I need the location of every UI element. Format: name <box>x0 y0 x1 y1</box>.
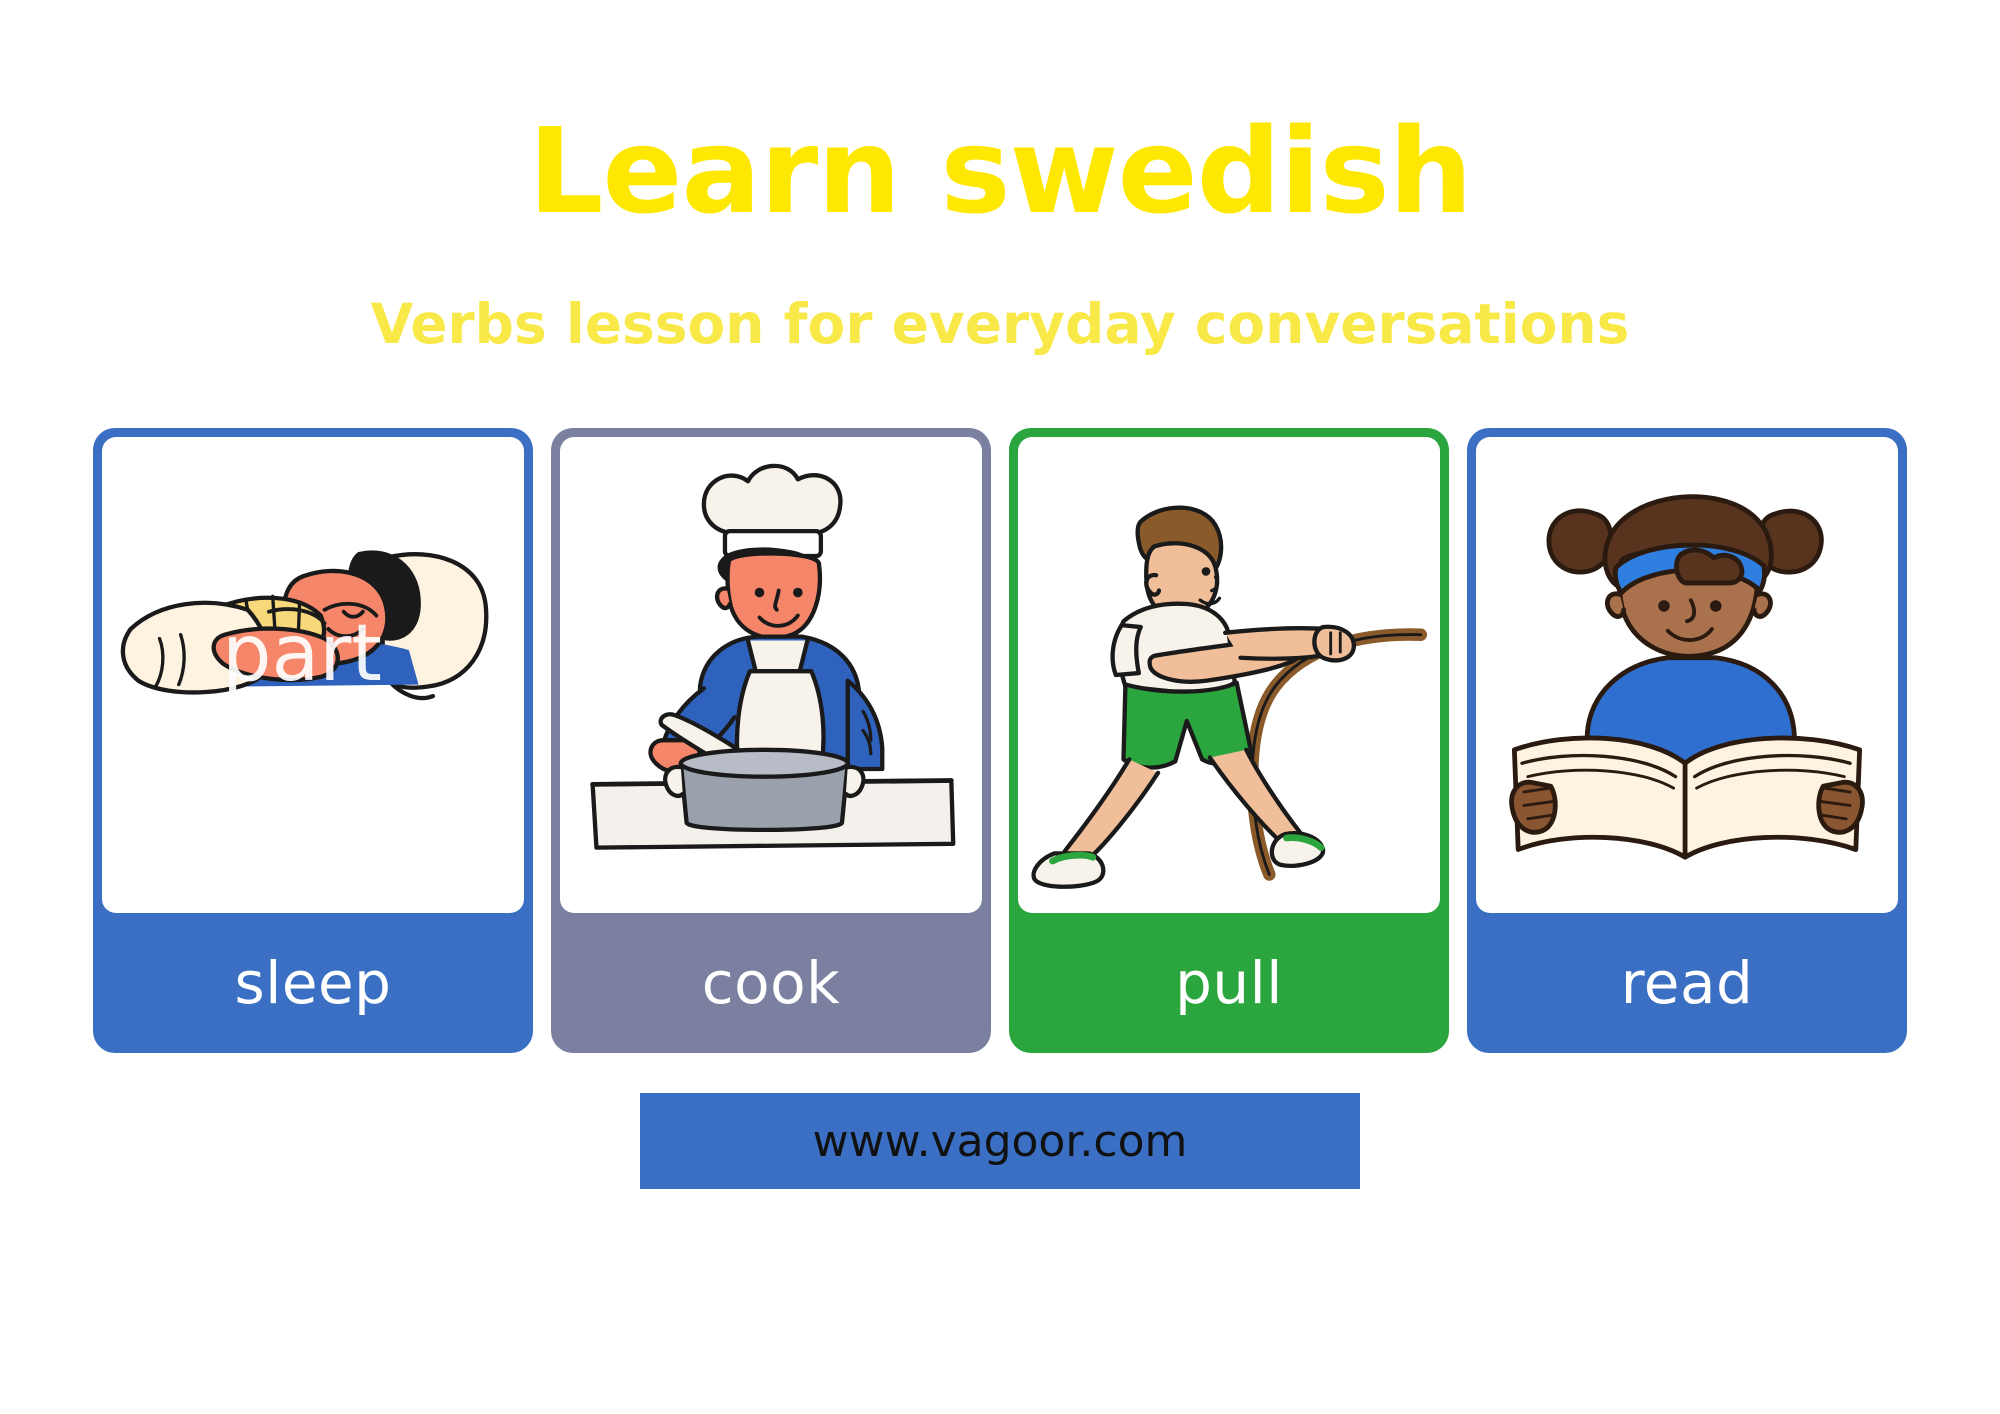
flashcard-read[interactable]: read <box>1467 428 1907 1053</box>
page-title: Learn swedish <box>528 112 1472 230</box>
flashcard-label-sleep: sleep <box>93 913 533 1053</box>
flashcard-label-pull: pull <box>1009 913 1449 1053</box>
flashcard-label-cook: cook <box>551 913 991 1053</box>
girl-reading-book-icon <box>1476 437 1898 913</box>
boy-pulling-rope-icon <box>1018 437 1440 913</box>
flashcard-label-read: read <box>1467 913 1907 1053</box>
sleeping-person-icon: part <box>102 437 524 913</box>
website-url-text: www.vagoor.com <box>813 1116 1188 1167</box>
page-subtitle: Verbs lesson for everyday conversations <box>371 292 1630 356</box>
flashcard-cook[interactable]: cook <box>551 428 991 1053</box>
poster-root: Learn swedish Verbs lesson for everyday … <box>0 0 2000 1414</box>
flashcard-sleep[interactable]: part sleep <box>93 428 533 1053</box>
flashcard-pull[interactable]: pull <box>1009 428 1449 1053</box>
chef-cooking-icon <box>560 437 982 913</box>
website-url-bar[interactable]: www.vagoor.com <box>640 1093 1360 1189</box>
flashcard-row: part sleep <box>0 428 2000 1053</box>
